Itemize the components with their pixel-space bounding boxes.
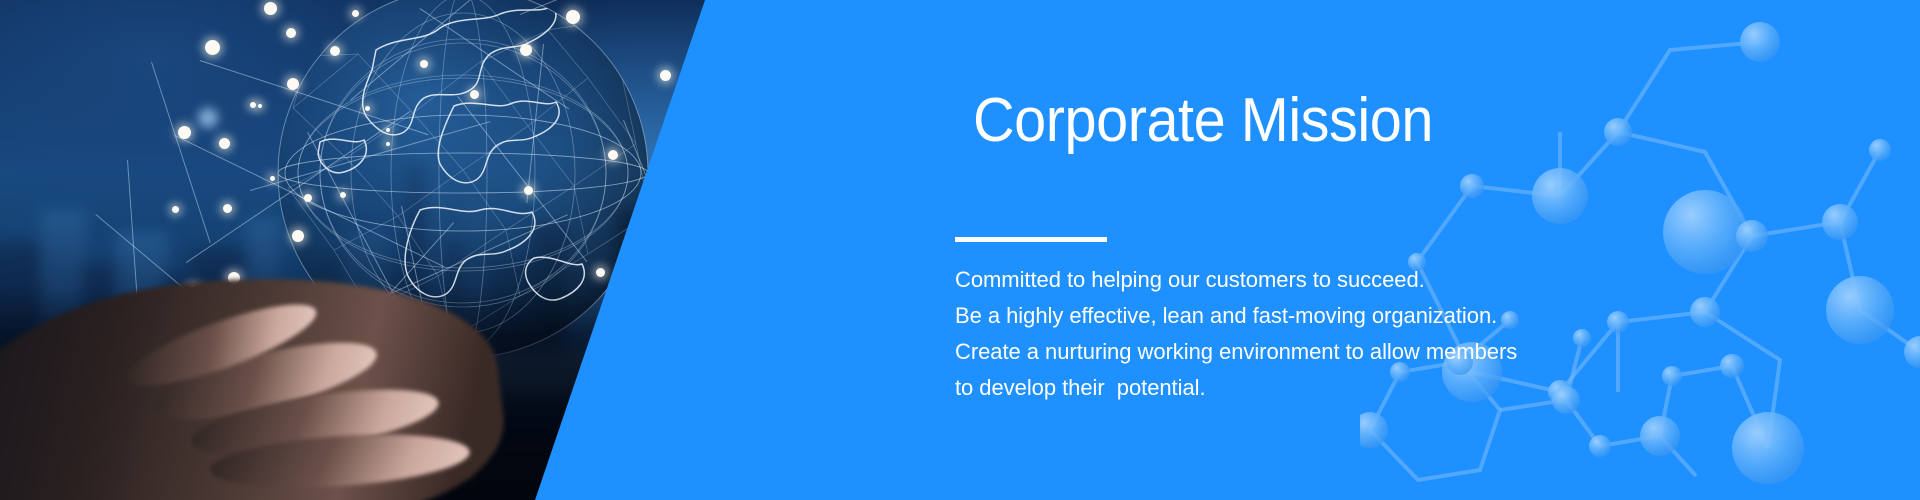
mission-line: Create a nurturing working environment t… [955, 334, 1755, 370]
hero-content: Corporate Mission Committed to helping o… [955, 0, 1775, 500]
corporate-mission-banner: Corporate Mission Committed to helping o… [0, 0, 1920, 500]
mission-statement-list: Committed to helping our customers to su… [955, 262, 1755, 406]
mission-line: Be a highly effective, lean and fast-mov… [955, 298, 1755, 334]
page-title: Corporate Mission [973, 88, 1433, 153]
mission-line: Committed to helping our customers to su… [955, 262, 1755, 298]
title-divider [955, 237, 1107, 242]
mission-line: to develop their potential. [955, 370, 1755, 406]
